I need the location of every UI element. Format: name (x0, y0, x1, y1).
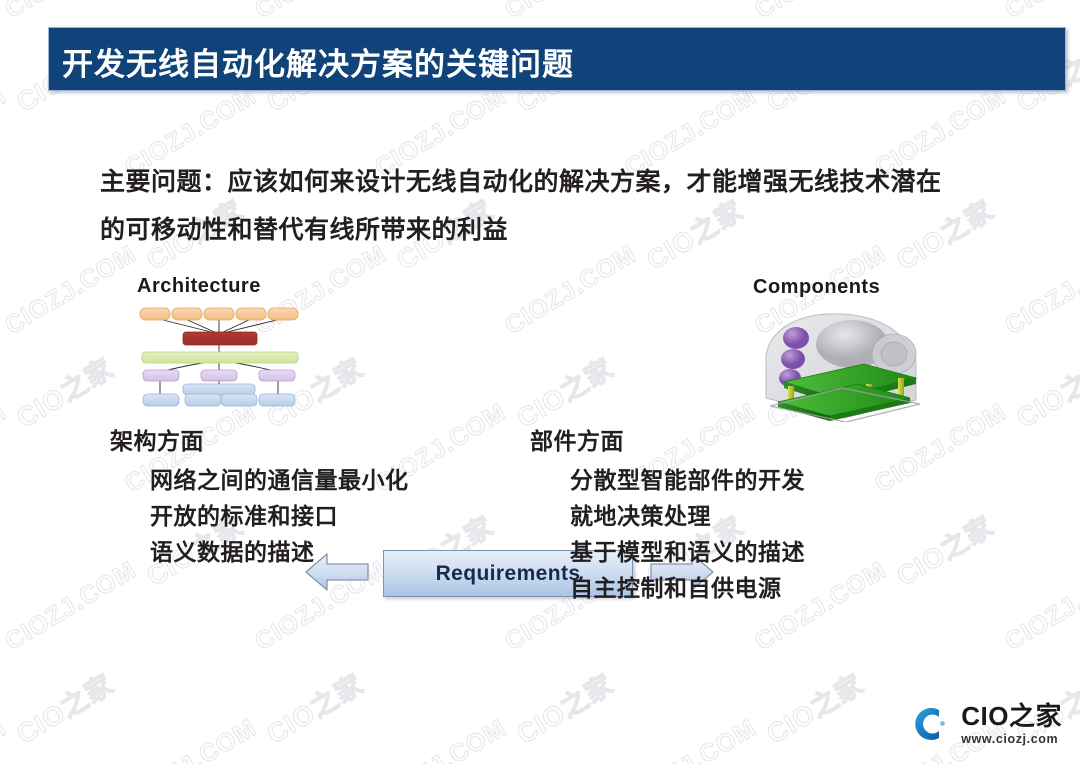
components-group: Components (748, 262, 958, 422)
watermark-url: CIOZJ.COM (120, 714, 262, 764)
watermark-url: CIOZJ.COM (750, 0, 892, 25)
column-list: 网络之间的通信量最小化 开放的标准和接口 语义数据的描述 (110, 462, 530, 570)
watermark-url: CIOZJ.COM (370, 714, 512, 764)
list-item: 基于模型和语义的描述 (530, 534, 990, 570)
watermark-url: CIOZJ.COM (250, 0, 392, 25)
list-item: 语义数据的描述 (110, 534, 530, 570)
column-list: 分散型智能部件的开发 就地决策处理 基于模型和语义的描述 自主控制和自供电源 (530, 462, 990, 606)
watermark-url: CIOZJ.COM (0, 714, 12, 764)
title-banner: 开发无线自动化解决方案的关键问题 (48, 27, 1066, 91)
question-line-1: 主要问题：应该如何来设计无线自动化的解决方案，才能增强无线技术潜在 (100, 158, 980, 206)
list-item: 网络之间的通信量最小化 (110, 462, 530, 498)
watermark-url: CIOZJ.COM (620, 714, 762, 764)
main-question: 主要问题：应该如何来设计无线自动化的解决方案，才能增强无线技术潜在 的可移动性和… (100, 158, 980, 254)
watermark-cn: CIO之家 (758, 663, 870, 752)
question-line-2: 的可移动性和替代有线所带来的利益 (100, 206, 980, 254)
column-heading: 架构方面 (110, 424, 530, 458)
list-item: 分散型智能部件的开发 (530, 462, 990, 498)
page-title: 开发无线自动化解决方案的关键问题 (62, 39, 574, 84)
watermark-cn: CIO之家 (258, 663, 370, 752)
watermark-cn: CIO之家 (508, 663, 620, 752)
list-item: 开放的标准和接口 (110, 498, 530, 534)
diagram-row: Architecture (0, 262, 1080, 422)
architecture-diagram-icon (135, 302, 307, 408)
logo-url: www.ciozj.com (961, 733, 1062, 746)
watermark-url: CIOZJ.COM (500, 0, 642, 25)
watermark-url: CIOZJ.COM (0, 82, 12, 183)
column-components: 部件方面 分散型智能部件的开发 就地决策处理 基于模型和语义的描述 自主控制和自… (530, 424, 990, 606)
logo-text: CIO之家 www.ciozj.com (961, 703, 1062, 746)
column-architecture: 架构方面 网络之间的通信量最小化 开放的标准和接口 语义数据的描述 (110, 424, 530, 570)
components-cad-render-icon (748, 300, 938, 422)
watermark-url: CIOZJ.COM (0, 0, 142, 25)
list-item: 自主控制和自供电源 (530, 570, 990, 606)
architecture-label: Architecture (137, 275, 261, 298)
watermark-cn: CIO之家 (8, 663, 120, 752)
watermark-url: CIOZJ.COM (1000, 0, 1080, 25)
components-label: Components (753, 276, 880, 299)
watermark-url: CIOZJ.COM (0, 556, 142, 657)
cio-ring-icon (907, 702, 951, 746)
watermark-url: CIOZJ.COM (1000, 556, 1080, 657)
list-item: 就地决策处理 (530, 498, 990, 534)
cio-logo[interactable]: CIO之家 www.ciozj.com (907, 702, 1062, 746)
architecture-group: Architecture (135, 262, 305, 412)
slide-canvas: CIOZJ.COMCIO之家CIOZJ.COMCIO之家CIOZJ.COMCIO… (0, 0, 1080, 764)
column-heading: 部件方面 (530, 424, 990, 458)
logo-title: CIO之家 (961, 703, 1062, 729)
